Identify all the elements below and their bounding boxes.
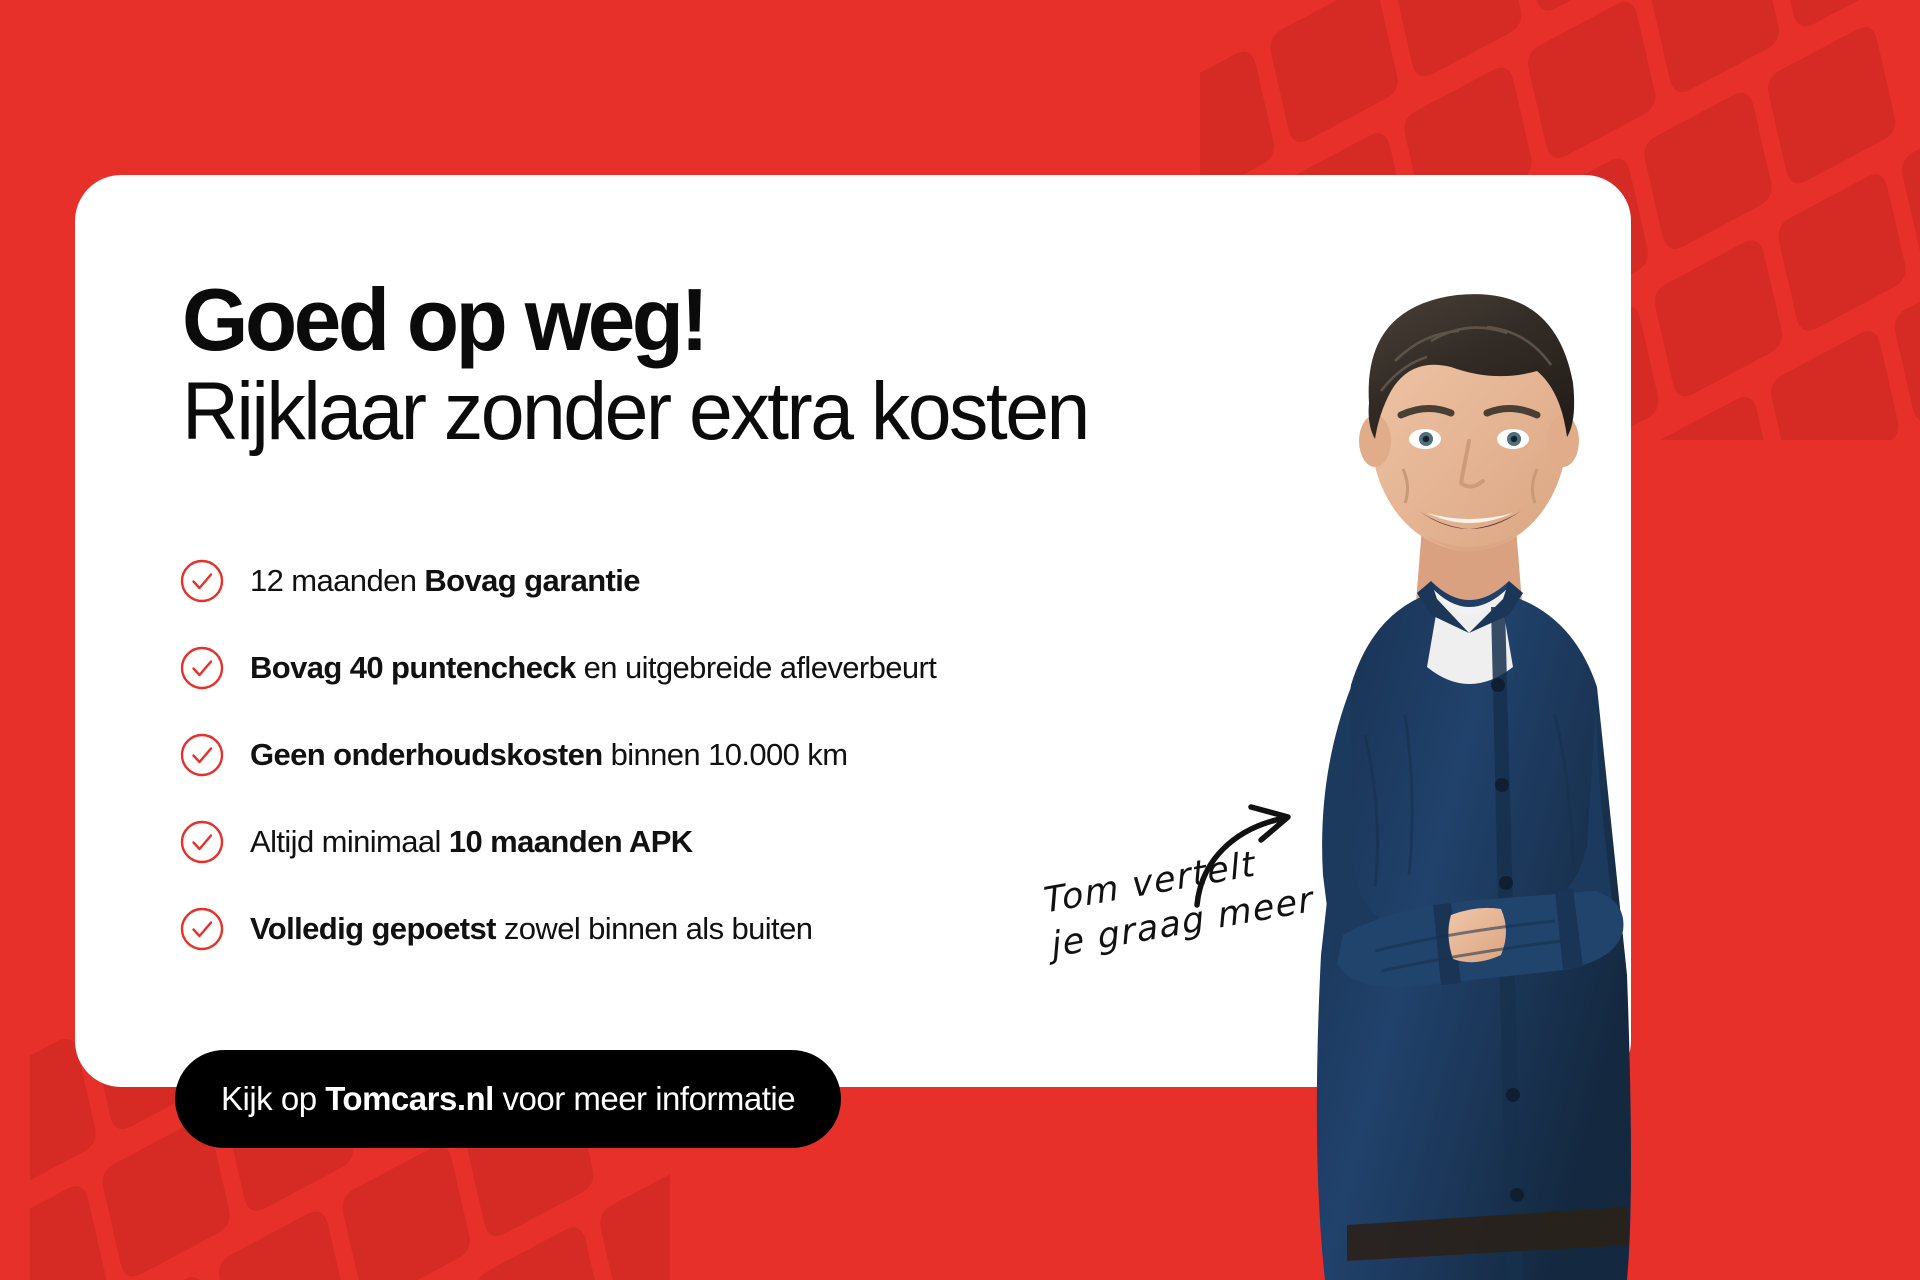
promo-banner: Goed op weg! Rijklaar zonder extra koste… [0,0,1920,1280]
list-item: 12 maanden Bovag garantie [180,552,1180,610]
list-item-label: Altijd minimaal 10 maanden APK [250,825,693,859]
avatar [1255,215,1815,1280]
circle-check-icon [180,559,224,603]
list-item: Volledig gepoetst zowel binnen als buite… [180,900,1180,958]
cta-button-label: Kijk op Tomcars.nl voor meer informatie [221,1080,795,1118]
list-item: Geen onderhoudskosten binnen 10.000 km [180,726,1180,784]
circle-check-icon [180,820,224,864]
circle-check-icon [180,907,224,951]
list-item-label: 12 maanden Bovag garantie [250,564,640,598]
list-item-label: Geen onderhoudskosten binnen 10.000 km [250,738,847,772]
heading-block: Goed op weg! Rijklaar zonder extra koste… [182,277,1282,456]
page-subtitle: Rijklaar zonder extra kosten [182,369,1238,456]
circle-check-icon [180,646,224,690]
page-title: Goed op weg! [182,277,1249,363]
feature-list: 12 maanden Bovag garantie Bovag 40 punte… [180,552,1180,958]
list-item: Altijd minimaal 10 maanden APK [180,813,1180,871]
list-item-label: Volledig gepoetst zowel binnen als buite… [250,912,812,946]
list-item-label: Bovag 40 puntencheck en uitgebreide afle… [250,651,936,685]
cta-button[interactable]: Kijk op Tomcars.nl voor meer informatie [175,1050,841,1148]
list-item: Bovag 40 puntencheck en uitgebreide afle… [180,639,1180,697]
circle-check-icon [180,733,224,777]
